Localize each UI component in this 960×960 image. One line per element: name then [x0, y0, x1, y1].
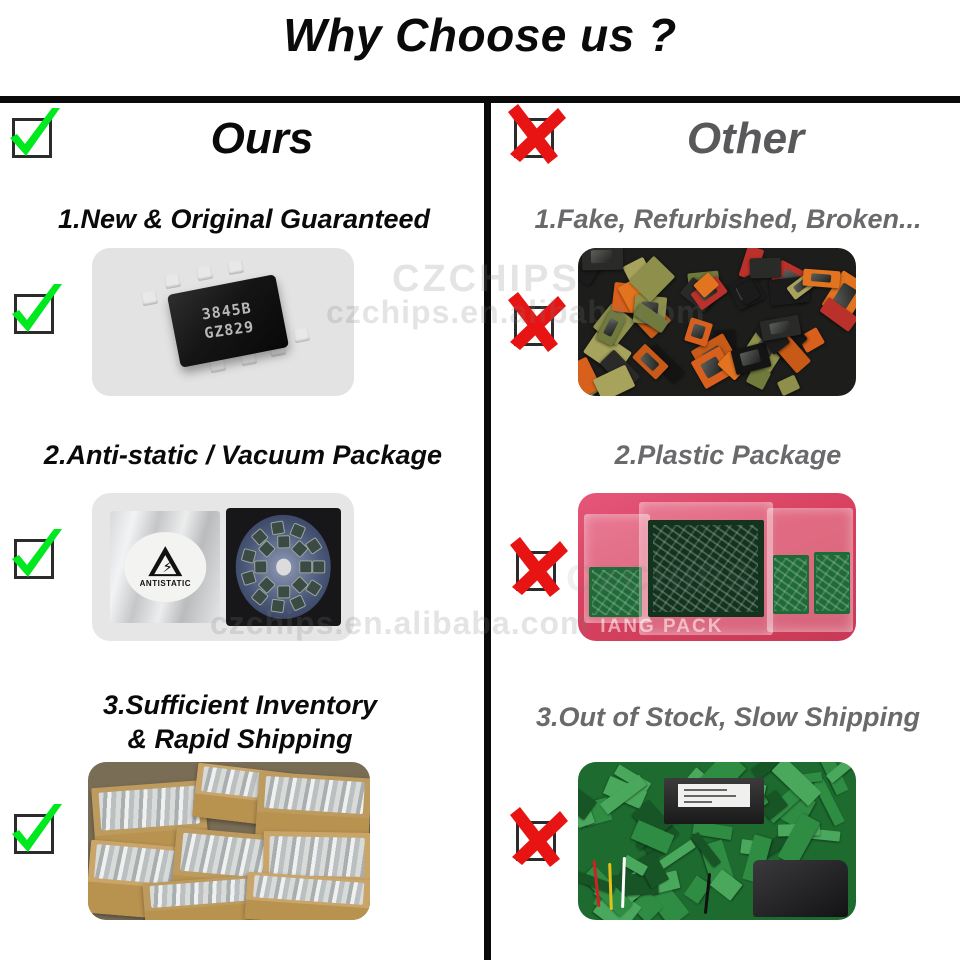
reel-pocket [290, 522, 307, 539]
photo-antistatic-package: ⚡ ANTISTATIC [92, 493, 354, 641]
cross-icon [508, 300, 562, 354]
antistatic-bags [269, 836, 364, 877]
row-3-label-ours-line-2: & Rapid Shipping [30, 722, 450, 756]
photo-scrap-chips [578, 248, 856, 396]
cross-icon [508, 112, 562, 166]
row-2-label-other: 2.Plastic Package [500, 438, 956, 472]
antistatic-bags [253, 875, 363, 904]
reel-pocket [271, 520, 286, 535]
reel-pocket [305, 579, 323, 597]
row-3-label-other: 3.Out of Stock, Slow Shipping [496, 700, 960, 734]
column-heading-ours: Ours [0, 108, 484, 170]
photo-chip: 3845B GZ829 [92, 248, 354, 396]
chip-die [603, 318, 619, 337]
esd-warning-icon: ⚡ [148, 546, 182, 576]
check-glyph [0, 102, 70, 172]
scrap-chip [802, 268, 841, 288]
photo-watermark: IANG PACK [600, 616, 834, 638]
chip-die [591, 250, 613, 263]
reel-pocket [254, 560, 267, 573]
cardboard-box [244, 871, 370, 920]
cross-icon [510, 545, 564, 599]
scrap-chip [750, 257, 782, 278]
component-reel-box [226, 508, 341, 626]
module-label [678, 784, 750, 807]
chip-die [811, 272, 831, 282]
row-3-label-ours-line-1: 3.Sufficient Inventory [30, 688, 450, 722]
antistatic-bags [264, 776, 365, 814]
check-glyph [2, 798, 72, 868]
cross-glyph [502, 102, 572, 172]
comparison-infographic: Why Choose us ? Ours Other 1.New & Origi… [0, 0, 960, 960]
chip-die [768, 321, 790, 335]
cross-icon [510, 815, 564, 869]
check-icon [8, 808, 62, 862]
scrap-chip [582, 248, 624, 270]
row-3-label-ours: 3.Sufficient Inventory & Rapid Shipping [30, 688, 450, 756]
reel-pocket [313, 560, 326, 573]
scrap-chip [777, 374, 800, 395]
cross-glyph [504, 805, 574, 875]
check-glyph [2, 523, 72, 593]
reel-pocket [299, 560, 312, 573]
reel-pocket [277, 535, 290, 548]
reel-pocket [271, 599, 286, 614]
black-casing [753, 860, 848, 917]
cross-glyph [504, 535, 574, 605]
chip-die [640, 352, 660, 371]
component-reel [236, 515, 331, 619]
antistatic-bags [98, 785, 200, 830]
chip-die [740, 349, 761, 366]
row-1-label-ours: 1.New & Original Guaranteed [18, 202, 470, 236]
photo-plastic-package: IANG PACK [578, 493, 856, 641]
antistatic-bag: ⚡ ANTISTATIC [110, 511, 220, 623]
check-icon [8, 533, 62, 587]
antistatic-caption: ANTISTATIC [140, 579, 191, 588]
header-divider [0, 96, 960, 103]
reel-pocket [290, 594, 307, 611]
photo-scrap-pcbs [578, 762, 856, 920]
page-title: Why Choose us ? [0, 8, 960, 62]
check-glyph [2, 278, 72, 348]
chip-die [690, 324, 705, 340]
reel-pocket [277, 585, 290, 598]
row-1-label-other: 1.Fake, Refurbished, Broken... [500, 202, 956, 236]
reel-pocket [304, 537, 322, 555]
row-2-label-ours: 2.Anti-static / Vacuum Package [8, 438, 478, 472]
check-icon [8, 288, 62, 342]
cross-glyph [502, 290, 572, 360]
column-divider [484, 103, 491, 960]
check-icon [6, 112, 60, 166]
photo-inventory-boxes [88, 762, 370, 920]
scrap-module [664, 778, 764, 824]
